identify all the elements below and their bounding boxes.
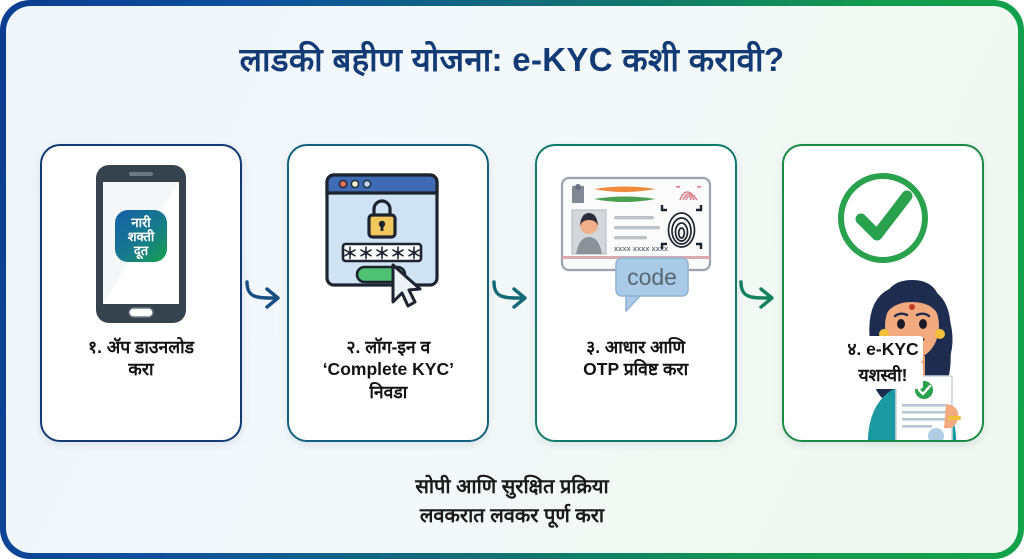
step-1-caption-line-2: करा xyxy=(88,358,194,380)
step-2-illustration: ＊＊＊＊＊ xyxy=(289,146,487,336)
step-3-caption-line-2: OTP प्रविष्ट करा xyxy=(583,358,688,380)
arrow-step3-to-step4-icon xyxy=(739,276,779,310)
bubble-text: code xyxy=(627,264,677,290)
step-1-illustration: नारी शक्ती दूत xyxy=(42,146,240,336)
step-3-illustration: xxxx xxxx xxxx xyxy=(537,146,735,336)
aadhaar-otp-icon: xxxx xxxx xxxx xyxy=(554,170,718,318)
step-4-illustration xyxy=(784,146,982,336)
arrow-gap-3 xyxy=(737,144,782,442)
step-4-caption-line-2: यशस्वी! xyxy=(843,362,922,388)
infographic-frame: लाडकी बहीण योजना: e-KYC कशी करावी? xyxy=(0,0,1024,559)
arrow-step1-to-step2-icon xyxy=(245,276,285,310)
aadhaar-number: xxxx xxxx xxxx xyxy=(614,244,669,253)
title-container: लाडकी बहीण योजना: e-KYC कशी करावी? xyxy=(6,40,1018,80)
browser-login-icon: ＊＊＊＊＊ xyxy=(319,169,457,319)
arrow-gap-1 xyxy=(242,144,287,442)
infographic-panel: लाडकी बहीण योजना: e-KYC कशी करावी? xyxy=(6,6,1018,553)
footer-text: सोपी आणि सुरक्षित प्रक्रिया लवकरात लवकर … xyxy=(6,473,1018,531)
arrow-gap-2 xyxy=(489,144,534,442)
app-icon-line-3: दूत xyxy=(133,243,149,260)
step-card-4[interactable]: ४. e-KYC यशस्वी! xyxy=(782,144,984,442)
step-3-caption-line-1: ३. आधार आणि xyxy=(583,336,688,358)
step-3-caption: ३. आधार आणि OTP प्रविष्ट करा xyxy=(537,336,735,440)
step-card-2[interactable]: ＊＊＊＊＊ २. लॉग-इन व ‘Complete KYC’ निवडा xyxy=(287,144,489,442)
success-check-icon xyxy=(831,166,935,270)
step-1-caption-line-1: १. ॲप डाउनलोड xyxy=(88,336,194,358)
steps-row: नारी शक्ती दूत १. ॲप डाउनलोड करा xyxy=(40,144,984,442)
code-bubble: code xyxy=(616,258,688,311)
step-card-3[interactable]: xxxx xxxx xxxx xyxy=(535,144,737,442)
password-mask: ＊＊＊＊＊ xyxy=(342,246,422,263)
arrow-step2-to-step3-icon xyxy=(492,276,532,310)
phone-app-icon: नारी शक्ती दूत xyxy=(93,162,189,326)
app-icon-line-2: शक्ती xyxy=(128,229,155,244)
step-card-1[interactable]: नारी शक्ती दूत १. ॲप डाउनलोड करा xyxy=(40,144,242,442)
step-2-caption-line-1: २. लॉग-इन व xyxy=(323,336,454,358)
page-title: लाडकी बहीण योजना: e-KYC कशी करावी? xyxy=(240,40,785,80)
success-check-container xyxy=(784,166,982,270)
step-4-caption-line-1: ४. e-KYC xyxy=(843,336,922,362)
step-1-caption: १. ॲप डाउनलोड करा xyxy=(42,336,240,440)
step-4-caption: ४. e-KYC यशस्वी! xyxy=(784,336,982,440)
footer-line-1: सोपी आणि सुरक्षित प्रक्रिया xyxy=(6,473,1018,502)
step-2-caption-line-2: ‘Complete KYC’ xyxy=(323,358,454,380)
step-2-caption-line-3: निवडा xyxy=(323,381,454,403)
step-2-caption: २. लॉग-इन व ‘Complete KYC’ निवडा xyxy=(289,336,487,440)
app-icon-line-1: नारी xyxy=(130,215,151,230)
footer-line-2: लवकरात लवकर पूर्ण करा xyxy=(6,502,1018,531)
